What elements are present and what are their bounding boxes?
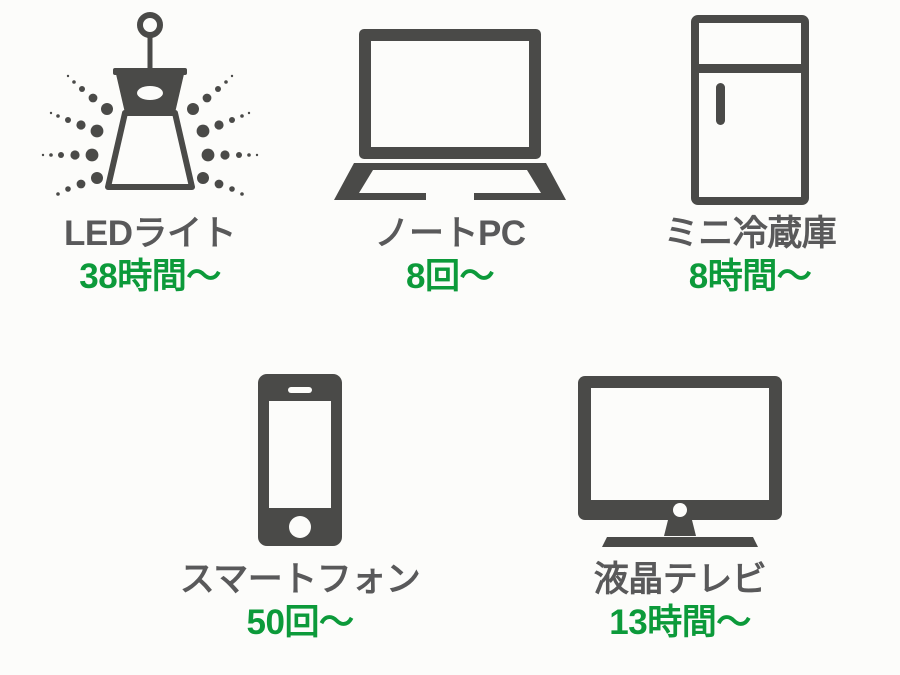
device-value: 8回〜: [406, 257, 494, 296]
lcd-television-icon: [490, 340, 870, 550]
device-row-bottom: スマートフォン 50回〜: [0, 340, 900, 675]
device-value: 50回〜: [247, 603, 354, 642]
device-value: 13時間〜: [609, 603, 750, 642]
led-light-icon: [0, 0, 300, 208]
device-label: スマートフォン: [180, 560, 420, 599]
device-label: LEDライト: [64, 214, 236, 253]
device-card-refrigerator: ミニ冷蔵庫 8時間〜: [600, 0, 900, 340]
smartphone-icon: [110, 340, 490, 550]
device-label: ミニ冷蔵庫: [664, 214, 837, 253]
laptop-icon: [300, 0, 600, 208]
device-label: 液晶テレビ: [594, 560, 767, 599]
device-label: ノートPC: [374, 214, 525, 253]
device-card-television: 液晶テレビ 13時間〜: [490, 340, 870, 675]
device-card-laptop: ノートPC 8回〜: [300, 0, 600, 340]
mini-refrigerator-icon: [600, 0, 900, 208]
device-value: 38時間〜: [79, 257, 220, 296]
device-runtime-board: LEDライト 38時間〜: [0, 0, 900, 675]
device-card-led-light: LEDライト 38時間〜: [0, 0, 300, 340]
device-value: 8時間〜: [689, 257, 811, 296]
device-row-top: LEDライト 38時間〜: [0, 0, 900, 340]
device-card-smartphone: スマートフォン 50回〜: [110, 340, 490, 675]
